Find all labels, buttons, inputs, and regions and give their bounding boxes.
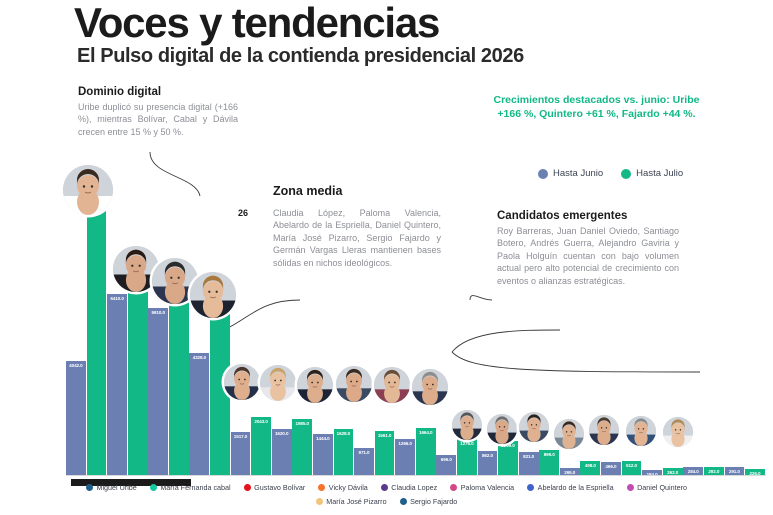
bar-value-label: 1266.0 — [398, 441, 411, 446]
bar-value-label: 284.0 — [688, 469, 699, 474]
x-axis-baseline — [66, 475, 766, 476]
bar-value-label: 5910.0 — [151, 310, 164, 315]
bar[interactable]: 1444.0 — [313, 434, 333, 475]
avatar-andres-guerra[interactable] — [589, 415, 619, 445]
bar-value-label: 1444.0 — [316, 436, 329, 441]
avatar-portrait-icon — [336, 366, 372, 402]
bar[interactable]: 466.0 — [601, 462, 621, 475]
candidate-dot-icon — [316, 498, 323, 505]
avatar-daniel-quintero[interactable] — [336, 366, 372, 402]
bar-value-label: 696.0 — [441, 457, 452, 462]
bar-value-label: 262.0 — [667, 470, 678, 475]
bar[interactable]: 284.0 — [683, 467, 703, 475]
bar[interactable]: 1209.0 — [498, 441, 518, 475]
candidate-legend: Miguel UribeMaría Fernanda cabalGustavo … — [0, 483, 773, 506]
candidate-dot-icon — [244, 484, 251, 491]
avatar-juan-daniel-oviedo[interactable] — [519, 412, 549, 442]
avatar-portrait-icon — [589, 415, 619, 445]
avatar-portrait-icon — [487, 414, 517, 444]
avatar-maria-jose-pizarro[interactable] — [374, 367, 410, 403]
candidate-legend-item[interactable]: María Fernanda cabal — [150, 483, 231, 492]
bar[interactable]: 1517.0 — [231, 432, 251, 475]
avatar-santiago-botero[interactable] — [554, 419, 584, 449]
growth-callout: Crecimientos destacados vs. junio: Uribe… — [484, 93, 709, 121]
bar[interactable]: 292.0 — [704, 467, 724, 475]
annotation-dominio-body: Uribe duplicó su presencia digital (+166… — [78, 101, 238, 138]
bar-value-label: 4328.0 — [193, 355, 206, 360]
candidate-legend-label: Sergio Fajardo — [410, 497, 457, 506]
bar[interactable]: 1276.0 — [457, 439, 477, 475]
bar[interactable]: 899.0 — [539, 450, 559, 475]
bar[interactable]: 265.0 — [560, 468, 580, 475]
candidate-legend-label: Daniel Quintero — [637, 483, 687, 492]
candidate-dot-icon — [86, 484, 93, 491]
candidate-legend-label: Claudia Lopez — [391, 483, 437, 492]
candidate-legend-item[interactable]: Claudia Lopez — [381, 483, 437, 492]
avatar-portrait-icon — [626, 416, 656, 446]
bar-value-label: 899.0 — [544, 452, 555, 457]
bar[interactable]: 4328.0 — [189, 353, 209, 475]
bar[interactable]: 1664.0 — [416, 428, 436, 475]
candidate-legend-row-2: María José PizarroSergio Fajardo — [60, 497, 713, 506]
candidate-dot-icon — [381, 484, 388, 491]
candidate-legend-item[interactable]: Sergio Fajardo — [400, 497, 458, 506]
candidate-legend-item[interactable]: Vicky Dávila — [318, 483, 368, 492]
avatar-sergio-fajardo[interactable] — [412, 369, 448, 405]
bar[interactable]: 1985.0 — [292, 419, 312, 475]
infographic-canvas: Voces y tendencias El Pulso digital de l… — [0, 0, 773, 515]
bar-value-label: 971.0 — [358, 450, 369, 455]
avatar-paola-holguin[interactable] — [663, 417, 693, 447]
candidate-legend-row-1: Miguel UribeMaría Fernanda cabalGustavo … — [60, 483, 713, 492]
annotation-dominio-heading: Dominio digital — [78, 86, 238, 98]
candidate-dot-icon — [400, 498, 407, 505]
bar-value-label: 1628.0 — [337, 431, 350, 436]
avatar-portrait-icon — [519, 412, 549, 442]
bar-value-label: 1620.0 — [275, 431, 288, 436]
bar[interactable]: 6410.0 — [107, 294, 127, 475]
candidate-dot-icon — [527, 484, 534, 491]
avatar-german-vargas-lleras[interactable] — [452, 410, 482, 440]
bar[interactable]: 262.0 — [663, 468, 683, 475]
avatar-abelardo-espriella[interactable] — [297, 367, 333, 403]
avatar-portrait-icon — [374, 367, 410, 403]
avatar-portrait-icon — [190, 272, 236, 318]
candidate-legend-label: Paloma Valencia — [461, 483, 514, 492]
bar[interactable]: 498.0 — [580, 461, 600, 475]
candidate-legend-label: Abelardo de la Espriella — [538, 483, 614, 492]
bar-value-label: 1517.0 — [234, 434, 247, 439]
avatar-portrait-icon — [452, 410, 482, 440]
avatar-claudia-lopez[interactable] — [224, 364, 260, 400]
bar[interactable]: 971.0 — [354, 448, 374, 475]
candidate-legend-label: María Fernanda cabal — [160, 483, 230, 492]
avatar-portrait-icon — [297, 367, 333, 403]
avatar-portrait-icon — [554, 419, 584, 449]
bar-value-label: 1561.0 — [378, 433, 391, 438]
bar-value-label: 1276.0 — [460, 441, 473, 446]
bar[interactable]: 5910.0 — [148, 308, 168, 475]
avatar-vicky-davila[interactable] — [190, 272, 236, 318]
bar-value-label: 6410.0 — [110, 296, 123, 301]
candidate-legend-label: Vicky Dávila — [329, 483, 368, 492]
candidate-legend-item[interactable]: María José Pizarro — [316, 497, 387, 506]
avatar-portrait-icon — [412, 369, 448, 405]
candidate-legend-item[interactable]: Miguel Uribe — [86, 483, 137, 492]
bar-value-label: 1985.0 — [296, 421, 309, 426]
bar-value-label: 466.0 — [605, 464, 616, 469]
candidate-legend-item[interactable]: Abelardo de la Espriella — [527, 483, 613, 492]
bar-value-label: 2043.0 — [254, 419, 267, 424]
bar-value-label: 292.0 — [708, 469, 719, 474]
candidate-dot-icon — [627, 484, 634, 491]
candidate-legend-item[interactable]: Gustavo Bolívar — [244, 483, 306, 492]
avatar-roy-barreras[interactable] — [487, 414, 517, 444]
bar-value-label: 821.0 — [523, 454, 534, 459]
bar[interactable]: 512.0 — [622, 461, 642, 475]
bar[interactable]: 696.0 — [436, 455, 456, 475]
candidate-legend-label: María José Pizarro — [326, 497, 386, 506]
candidate-legend-item[interactable]: Daniel Quintero — [627, 483, 687, 492]
bar-value-label: 291.0 — [729, 469, 740, 474]
avatar-miguel-uribe[interactable] — [63, 165, 113, 215]
avatar-portrait-icon — [260, 365, 296, 401]
bar[interactable]: 10764.0 — [87, 171, 107, 475]
bar-value-label: 265.0 — [564, 470, 575, 475]
page-subtitle: El Pulso digital de la contienda preside… — [77, 45, 524, 68]
candidate-legend-item[interactable]: Paloma Valencia — [450, 483, 514, 492]
mentions-bar-chart: Menciones 26 4042.010764.06410.07744.059… — [66, 150, 766, 475]
bar[interactable]: 4042.0 — [66, 361, 86, 475]
avatar-portrait-icon — [63, 165, 113, 215]
bar[interactable]: 821.0 — [519, 452, 539, 475]
candidate-dot-icon — [150, 484, 157, 491]
bar-series-container: 4042.010764.06410.07744.05910.06899.0432… — [66, 150, 766, 475]
bar-value-label: 512.0 — [626, 463, 637, 468]
candidate-dot-icon — [450, 484, 457, 491]
bar-value-label: 1664.0 — [419, 430, 432, 435]
avatar-portrait-icon — [663, 417, 693, 447]
candidate-legend-label: Gustavo Bolívar — [254, 483, 305, 492]
bar-value-label: 862.0 — [482, 453, 493, 458]
candidate-dot-icon — [318, 484, 325, 491]
bar-value-label: 498.0 — [585, 463, 596, 468]
bar[interactable]: 1620.0 — [272, 429, 292, 475]
bar[interactable]: 6899.0 — [169, 280, 189, 475]
bar[interactable]: 291.0 — [725, 467, 745, 475]
avatar-alejandro-gaviria[interactable] — [626, 416, 656, 446]
bar[interactable]: 1266.0 — [395, 439, 415, 475]
avatar-portrait-icon — [224, 364, 260, 400]
bar[interactable]: 1628.0 — [334, 429, 354, 475]
bar[interactable]: 2043.0 — [251, 417, 271, 475]
annotation-dominio-digital: Dominio digital Uribe duplicó su presenc… — [78, 86, 238, 138]
page-title: Voces y tendencias — [74, 2, 439, 45]
bar-value-label: 4042.0 — [69, 363, 82, 368]
candidate-legend-label: Miguel Uribe — [96, 483, 136, 492]
bar[interactable]: 862.0 — [478, 451, 498, 475]
bar[interactable]: 1561.0 — [375, 431, 395, 475]
avatar-paloma-valencia[interactable] — [260, 365, 296, 401]
